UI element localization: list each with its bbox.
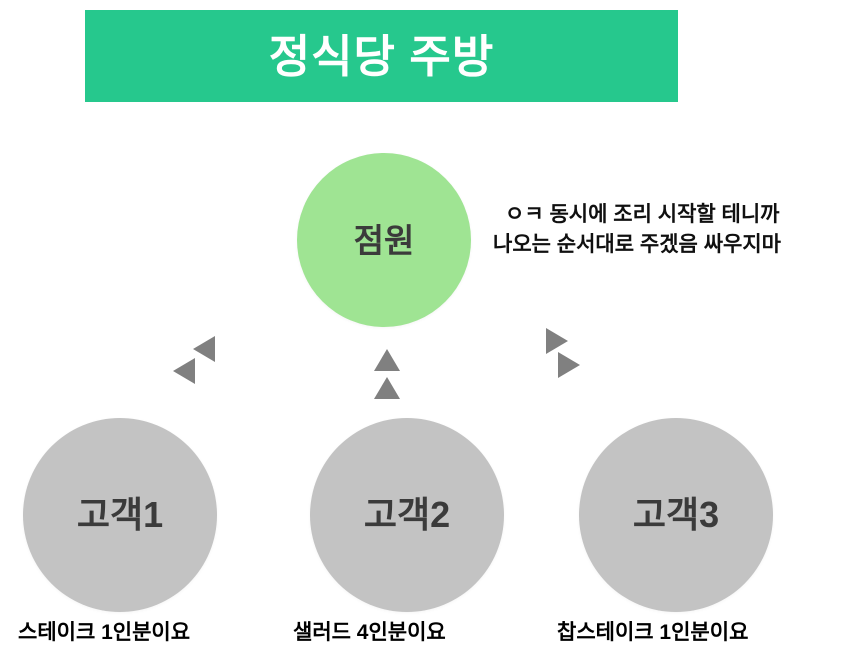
- triangle-right-icon: [546, 328, 568, 354]
- triangle-left-icon: [173, 358, 195, 384]
- clerk-speech-text: ㅇㅋ 동시에 조리 시작할 테니까 나오는 순서대로 주겠음 싸우지마: [505, 200, 845, 260]
- customer-1-order-caption: 스테이크 1인분이요: [18, 620, 190, 645]
- clerk-node[interactable]: 점원: [297, 153, 471, 327]
- customer-node-1[interactable]: 고객1: [23, 418, 217, 612]
- clerk-node-label: 점원: [354, 224, 415, 257]
- customer-node-3[interactable]: 고객3: [579, 418, 773, 612]
- clerk-speech-line-2: 나오는 순서대로 주겠음 싸우지마: [493, 230, 845, 260]
- customer-2-order-caption: 샐러드 4인분이요: [293, 620, 446, 645]
- customer-node-2-label: 고객2: [364, 497, 450, 533]
- page-title: 정식당 주방: [269, 34, 495, 79]
- title-banner: 정식당 주방: [85, 10, 678, 102]
- triangle-right-icon: [558, 352, 580, 378]
- customer-node-1-label: 고객1: [77, 497, 163, 533]
- triangle-left-icon: [193, 336, 215, 362]
- triangle-up-icon: [374, 349, 400, 371]
- customer-3-order-caption: 찹스테이크 1인분이요: [557, 620, 748, 645]
- customer-node-2[interactable]: 고객2: [310, 418, 504, 612]
- clerk-speech-line-1: ㅇㅋ 동시에 조리 시작할 테니까: [505, 200, 845, 230]
- triangle-up-icon: [374, 377, 400, 399]
- customer-node-3-label: 고객3: [633, 497, 719, 533]
